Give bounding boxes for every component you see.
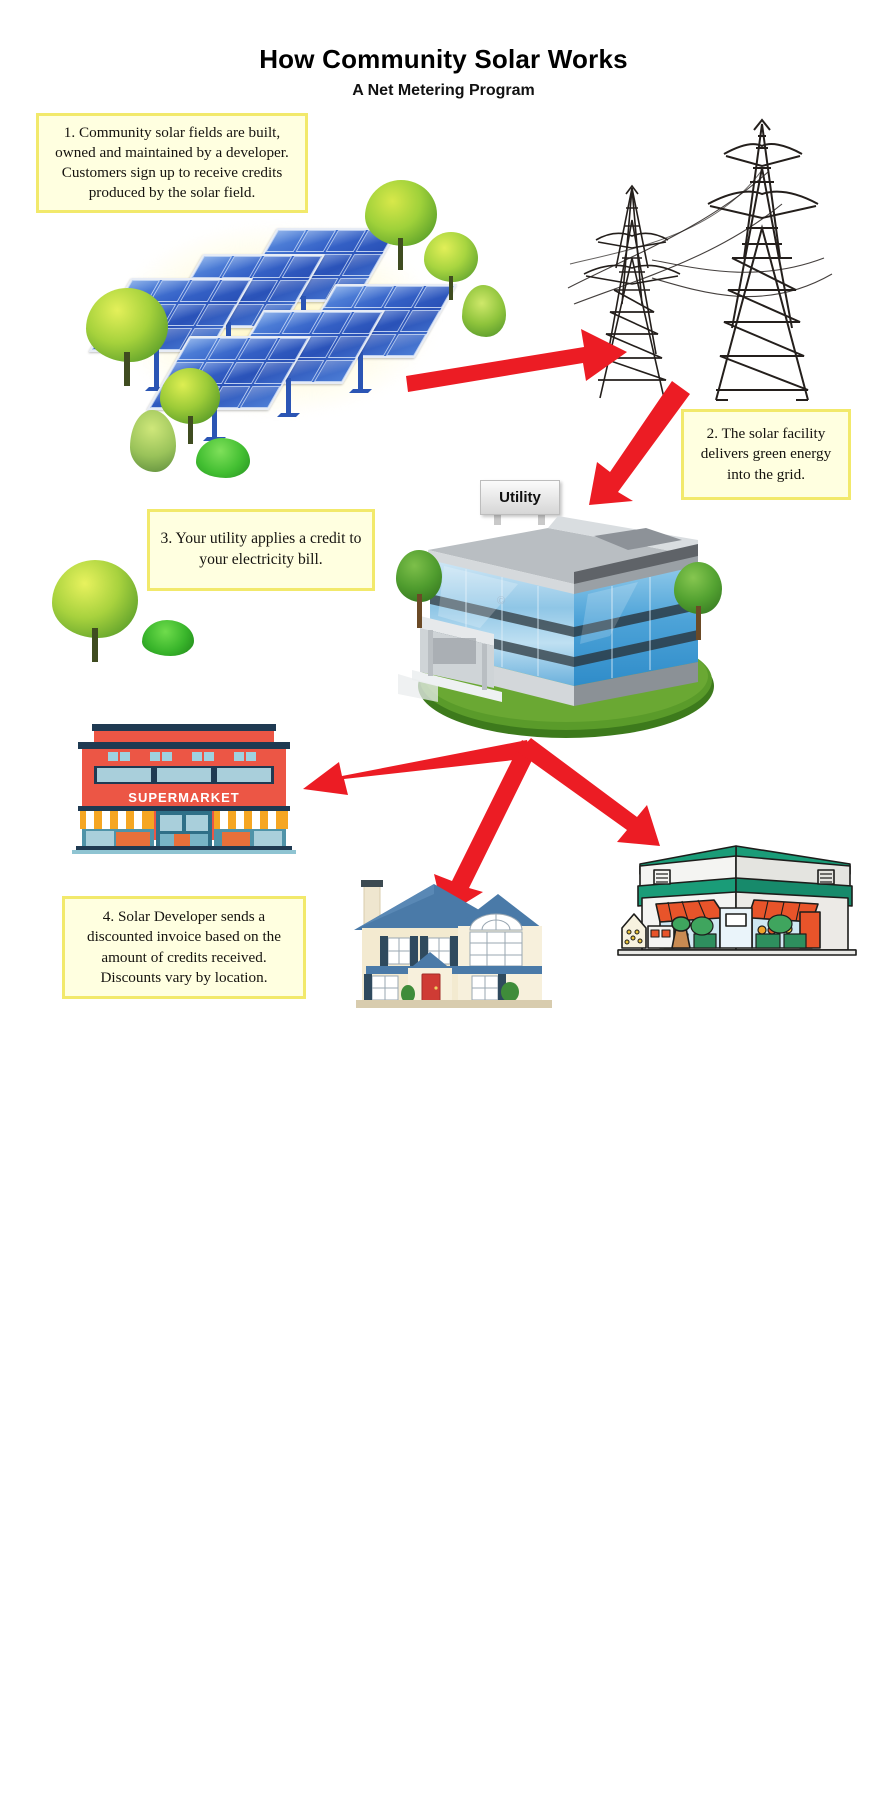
callout-step-2: 2. The solar facility delivers green ene… bbox=[681, 409, 851, 500]
callout-step-1: 1. Community solar fields are built, own… bbox=[36, 113, 308, 213]
arrow-utility-to-supermarket bbox=[303, 740, 532, 795]
supermarket-illustration: SUPERMARKET bbox=[64, 722, 304, 854]
utility-building-illustration: Utility bbox=[398, 476, 728, 744]
background-watermark: © bbox=[497, 595, 506, 607]
store-svg bbox=[612, 842, 864, 962]
arrow-utility-to-store bbox=[518, 738, 660, 846]
supermarket-svg: SUPERMARKET bbox=[64, 722, 304, 854]
callout-step-3: 3. Your utility applies a credit to your… bbox=[147, 509, 375, 591]
convenience-store-illustration: watermark bbox=[612, 842, 864, 962]
supermarket-sign-text: SUPERMARKET bbox=[128, 790, 239, 805]
house-svg bbox=[346, 866, 566, 1024]
tree bbox=[396, 550, 442, 630]
arrow-solar-to-grid bbox=[406, 329, 627, 392]
house-illustration bbox=[346, 866, 566, 1024]
tree bbox=[674, 562, 722, 642]
callout-step-4: 4. Solar Developer sends a discounted in… bbox=[62, 896, 306, 999]
infographic-canvas: How Community Solar Works A Net Metering… bbox=[0, 0, 887, 1024]
